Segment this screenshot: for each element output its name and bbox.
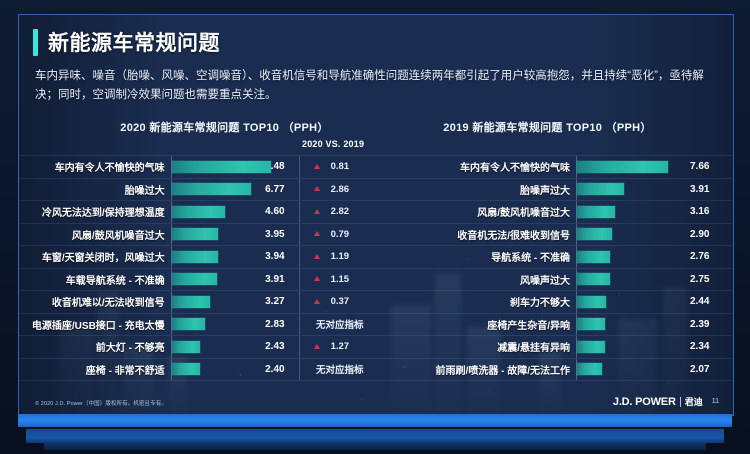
chart-row: 刹车力不够大2.44 xyxy=(380,290,733,313)
value-label: 2.40 xyxy=(262,364,299,375)
row-label: 风扇/鼓风机噪音过大 xyxy=(380,204,576,219)
chart-row: 胎噪过大6.772.86 xyxy=(19,178,380,201)
value-bar xyxy=(577,161,668,173)
bar-track xyxy=(171,336,262,358)
bar-track xyxy=(171,314,262,336)
row-label: 刹车力不够大 xyxy=(380,294,576,309)
jd-power-logo: J.D. POWER 君迪 11 xyxy=(613,395,719,408)
charts-container: 2020 新能源车常规问题 TOP10 （PPH） 2020 VS. 2019 … xyxy=(19,119,733,371)
row-label: 车内有令人不愉快的气味 xyxy=(380,159,576,174)
value-bar xyxy=(577,273,610,285)
page-title: 新能源车常规问题 xyxy=(48,27,220,57)
delta-value: 无对应指标 xyxy=(316,317,364,331)
delta-value: 1.15 xyxy=(331,274,350,285)
delta-value: 2.86 xyxy=(331,184,350,195)
reflection-band-tertiary xyxy=(44,443,706,450)
copyright-text: © 2020 J.D. Power（中国）版权所有。机密且专有。 xyxy=(35,399,167,407)
delta-value: 1.27 xyxy=(331,341,350,352)
chart-2020: 2020 新能源车常规问题 TOP10 （PPH） 2020 VS. 2019 … xyxy=(19,119,380,371)
reflection-band-primary xyxy=(18,414,732,427)
value-bar xyxy=(577,251,610,263)
up-arrow-icon xyxy=(314,299,320,304)
reflection-band-secondary xyxy=(26,429,724,443)
chart-row: 车载导航系统 - 不准确3.911.15 xyxy=(19,268,380,291)
value-label: 6.77 xyxy=(262,184,299,195)
value-bar xyxy=(577,363,602,375)
delta-value: 0.81 xyxy=(331,161,350,172)
row-label: 风噪声过大 xyxy=(380,272,576,287)
delta-column-header: 2020 VS. 2019 xyxy=(302,139,364,149)
delta-cell: 无对应指标 xyxy=(299,359,380,381)
chart-row: 冷风无法达到/保持理想温度4.602.82 xyxy=(19,200,380,223)
chart-2019-title: 2019 新能源车常规问题 TOP10 （PPH） xyxy=(380,119,733,135)
slide-stage: 新能源车常规问题 车内异味、噪音（胎噪、风噪、空调噪音）、收音机信号和导航准确性… xyxy=(0,0,750,454)
chart-2019-rows: 车内有令人不愉快的气味7.66胎噪声过大3.91风扇/鼓风机噪音过大3.16收音… xyxy=(380,155,733,381)
row-label: 减震/悬挂有异响 xyxy=(380,339,576,354)
bar-track xyxy=(576,156,687,178)
bar-track xyxy=(171,246,262,268)
row-label: 座椅 - 非常不舒适 xyxy=(19,362,171,377)
chart-row: 座椅产生杂音/异响2.39 xyxy=(380,313,733,336)
chart-2019: 2019 新能源车常规问题 TOP10 （PPH） 车内有令人不愉快的气味7.6… xyxy=(380,119,733,371)
bar-track xyxy=(576,314,687,336)
value-bar xyxy=(577,296,606,308)
delta-cell: 0.37 xyxy=(299,291,380,313)
row-label: 收音机无法/很难收到信号 xyxy=(380,227,576,242)
value-bar xyxy=(172,228,218,240)
chart-row: 车窗/天窗关闭时，风噪过大3.941.19 xyxy=(19,245,380,268)
value-label: 7.66 xyxy=(687,161,730,172)
slide-frame: 新能源车常规问题 车内异味、噪音（胎噪、风噪、空调噪音）、收音机信号和导航准确性… xyxy=(18,14,734,416)
value-bar xyxy=(172,161,271,173)
chart-row: 车内有令人不愉快的气味8.480.81 xyxy=(19,155,380,178)
row-label: 电源插座/USB接口 - 充电太慢 xyxy=(19,317,171,332)
delta-cell: 1.19 xyxy=(299,246,380,268)
value-label: 2.83 xyxy=(262,319,299,330)
title-accent-bar xyxy=(33,29,38,56)
up-arrow-icon xyxy=(314,276,320,281)
value-bar xyxy=(172,206,226,218)
chart-2020-title: 2020 新能源车常规问题 TOP10 （PPH） xyxy=(27,119,388,135)
up-arrow-icon xyxy=(314,164,320,169)
delta-value: 0.79 xyxy=(331,229,350,240)
bar-track xyxy=(171,179,262,201)
value-label: 3.91 xyxy=(687,184,730,195)
delta-cell: 2.86 xyxy=(299,179,380,201)
row-label: 冷风无法达到/保持理想温度 xyxy=(19,204,171,219)
value-label: 2.39 xyxy=(687,319,730,330)
delta-value: 无对应指标 xyxy=(316,362,364,376)
chart-row: 电源插座/USB接口 - 充电太慢2.83无对应指标 xyxy=(19,313,380,336)
delta-value: 1.19 xyxy=(331,251,350,262)
bar-track xyxy=(576,224,687,246)
slide-header: 新能源车常规问题 xyxy=(33,27,220,57)
brand-name-cn: 君迪 xyxy=(685,395,703,408)
value-bar xyxy=(577,341,605,353)
row-label: 前雨刷/喷洗器 - 故障/无法工作 xyxy=(380,362,576,377)
up-arrow-icon xyxy=(314,231,320,236)
value-bar xyxy=(172,296,210,308)
value-label: 3.91 xyxy=(262,274,299,285)
up-arrow-icon xyxy=(314,344,320,349)
value-label: 2.43 xyxy=(262,341,299,352)
chart-row: 收音机无法/很难收到信号2.90 xyxy=(380,223,733,246)
value-label: 3.27 xyxy=(262,296,299,307)
row-label: 胎噪过大 xyxy=(19,182,171,197)
row-label: 胎噪声过大 xyxy=(380,182,576,197)
bar-track xyxy=(576,291,687,313)
value-bar xyxy=(172,251,218,263)
delta-cell: 1.15 xyxy=(299,269,380,291)
value-label: 2.90 xyxy=(687,229,730,240)
brand-name: J.D. POWER xyxy=(613,396,676,408)
up-arrow-icon xyxy=(314,186,320,191)
bar-track xyxy=(171,291,262,313)
value-label: 2.44 xyxy=(687,296,730,307)
row-label: 车窗/天窗关闭时，风噪过大 xyxy=(19,249,171,264)
value-label: 2.76 xyxy=(687,251,730,262)
up-arrow-icon xyxy=(314,209,320,214)
delta-cell: 2.82 xyxy=(299,201,380,223)
chart-row: 风扇/鼓风机噪音过大3.16 xyxy=(380,200,733,223)
bar-track xyxy=(171,156,262,178)
value-bar xyxy=(577,183,624,195)
up-arrow-icon xyxy=(314,254,320,259)
row-label: 风扇/鼓风机噪音过大 xyxy=(19,227,171,242)
chart-row: 前雨刷/喷洗器 - 故障/无法工作2.07 xyxy=(380,358,733,382)
bar-track xyxy=(171,201,262,223)
logo-divider xyxy=(680,397,681,407)
value-label: 3.95 xyxy=(262,229,299,240)
value-bar xyxy=(172,318,205,330)
bar-track xyxy=(576,246,687,268)
value-bar xyxy=(172,273,218,285)
delta-cell: 1.27 xyxy=(299,336,380,358)
bar-track xyxy=(576,179,687,201)
row-label: 车载导航系统 - 不准确 xyxy=(19,272,171,287)
delta-cell: 0.79 xyxy=(299,224,380,246)
value-bar xyxy=(577,228,612,240)
value-bar xyxy=(172,183,251,195)
delta-value: 2.82 xyxy=(331,206,350,217)
row-label: 收音机难以/无法收到信号 xyxy=(19,294,171,309)
row-label: 车内有令人不愉快的气味 xyxy=(19,159,171,174)
chart-row: 风噪声过大2.75 xyxy=(380,268,733,291)
value-bar xyxy=(577,206,615,218)
chart-row: 风扇/鼓风机噪音过大3.950.79 xyxy=(19,223,380,246)
chart-row: 前大灯 - 不够亮2.431.27 xyxy=(19,335,380,358)
delta-cell: 无对应指标 xyxy=(299,314,380,336)
chart-2020-rows: 车内有令人不愉快的气味8.480.81胎噪过大6.772.86冷风无法达到/保持… xyxy=(19,155,380,381)
bar-track xyxy=(576,269,687,291)
chart-row: 导航系统 - 不准确2.76 xyxy=(380,245,733,268)
chart-row: 减震/悬挂有异响2.34 xyxy=(380,335,733,358)
row-label: 前大灯 - 不够亮 xyxy=(19,339,171,354)
value-label: 4.60 xyxy=(262,206,299,217)
value-bar xyxy=(577,318,605,330)
value-label: 2.34 xyxy=(687,341,730,352)
row-label: 座椅产生杂音/异响 xyxy=(380,317,576,332)
bar-track xyxy=(576,359,687,381)
row-label: 导航系统 - 不准确 xyxy=(380,249,576,264)
chart-row: 胎噪声过大3.91 xyxy=(380,178,733,201)
value-bar xyxy=(172,363,200,375)
chart-row: 座椅 - 非常不舒适2.40无对应指标 xyxy=(19,358,380,382)
chart-row: 收音机难以/无法收到信号3.270.37 xyxy=(19,290,380,313)
slide-subtitle: 车内异味、噪音（胎噪、风噪、空调噪音）、收音机信号和导航准确性问题连续两年都引起… xyxy=(35,67,711,104)
value-bar xyxy=(172,341,200,353)
value-label: 3.94 xyxy=(262,251,299,262)
delta-cell: 0.81 xyxy=(299,156,380,178)
bar-track xyxy=(576,336,687,358)
delta-value: 0.37 xyxy=(331,296,350,307)
bar-track xyxy=(171,224,262,246)
chart-row: 车内有令人不愉快的气味7.66 xyxy=(380,155,733,178)
page-number: 11 xyxy=(712,398,719,405)
value-label: 2.07 xyxy=(687,364,730,375)
value-label: 2.75 xyxy=(687,274,730,285)
value-label: 3.16 xyxy=(687,206,730,217)
bar-track xyxy=(171,359,262,381)
bar-track xyxy=(171,269,262,291)
bar-track xyxy=(576,201,687,223)
